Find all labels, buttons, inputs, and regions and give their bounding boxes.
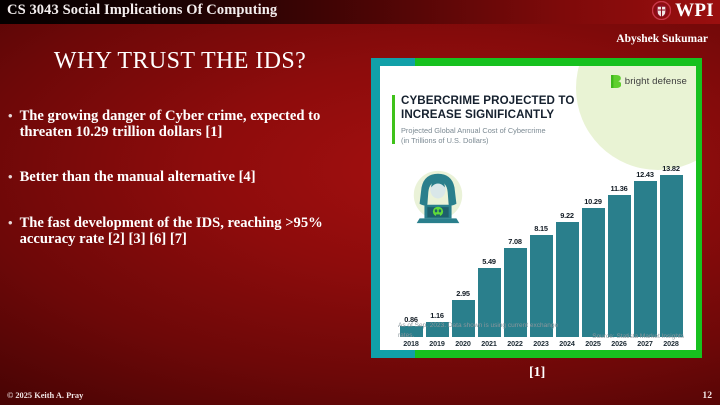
- brand-name: bright defense: [625, 76, 687, 87]
- x-axis-tick-label: 2022: [504, 339, 527, 350]
- bright-defense-logo: bright defense: [611, 75, 687, 88]
- bar: [608, 195, 631, 337]
- bar-column: 11.36: [608, 164, 631, 337]
- page-number: 12: [702, 390, 712, 401]
- x-axis-tick-label: 2020: [452, 339, 475, 350]
- bar-value-label: 9.22: [560, 211, 574, 220]
- chart-figure-frame: bright defense CYBERCRIME PROJECTED TO I…: [371, 58, 702, 358]
- list-item: • The fast development of the IDS, reach…: [8, 215, 366, 248]
- bullet-text: The growing danger of Cyber crime, expec…: [20, 108, 366, 141]
- chart-source: Source: Statista Market Insights: [592, 333, 684, 340]
- title-accent-bar: [392, 95, 395, 144]
- list-item: • Better than the manual alternative [4]: [8, 169, 366, 185]
- x-axis-labels: 2018201920202021202220232024202520262027…: [398, 339, 684, 350]
- copyright-notice: © 2025 Keith A. Pray: [7, 391, 83, 400]
- chart-card: bright defense CYBERCRIME PROJECTED TO I…: [380, 66, 696, 350]
- page-title: WHY TRUST THE IDS?: [0, 48, 360, 75]
- bullet-text: The fast development of the IDS, reachin…: [20, 215, 366, 248]
- wpi-seal-icon: [652, 1, 671, 20]
- bar: [660, 175, 683, 337]
- bright-defense-b-icon: [611, 75, 621, 88]
- bullet-marker-icon: •: [8, 215, 13, 248]
- bar-column: 10.29: [582, 164, 605, 337]
- bar-series: 0.861.162.955.497.088.159.2210.2911.3612…: [398, 164, 684, 337]
- x-axis-tick-label: 2023: [530, 339, 553, 350]
- bar-column: 5.49: [478, 164, 501, 337]
- bullet-list: • The growing danger of Cyber crime, exp…: [8, 108, 366, 270]
- bullet-marker-icon: •: [8, 108, 13, 141]
- x-axis-tick-label: 2024: [556, 339, 579, 350]
- x-axis-tick-label: 2028: [660, 339, 683, 350]
- x-axis-tick-label: 2025: [582, 339, 605, 350]
- bar-column: 7.08: [504, 164, 527, 337]
- bar-value-label: 12.43: [636, 170, 654, 179]
- list-item: • The growing danger of Cyber crime, exp…: [8, 108, 366, 141]
- bar-value-label: 10.29: [584, 197, 602, 206]
- x-axis-tick-label: 2026: [608, 339, 631, 350]
- bar: [556, 222, 579, 337]
- bar-column: 1.16: [426, 164, 449, 337]
- bar-value-label: 13.82: [662, 164, 680, 173]
- x-axis-tick-label: 2019: [426, 339, 449, 350]
- chart-subtitle: Projected Global Annual Cost of Cybercri…: [401, 126, 616, 146]
- slide-header-bar: CS 3043 Social Implications Of Computing…: [0, 0, 720, 24]
- bar-column: 13.82: [660, 164, 683, 337]
- bar-column: 12.43: [634, 164, 657, 337]
- x-axis-tick-label: 2021: [478, 339, 501, 350]
- bar-column: 8.15: [530, 164, 553, 337]
- bar-value-label: 5.49: [482, 257, 496, 266]
- presenter-name: Abyshek Sukumar: [616, 33, 708, 45]
- bar-column: 2.95: [452, 164, 475, 337]
- bullet-text: Better than the manual alternative [4]: [20, 169, 366, 185]
- bullet-marker-icon: •: [8, 169, 13, 185]
- bar-column: 9.22: [556, 164, 579, 337]
- wpi-logo-text: WPI: [675, 1, 714, 20]
- bar-column: 0.86: [400, 164, 423, 337]
- chart-title: CYBERCRIME PROJECTED TO INCREASE SIGNIFI…: [401, 94, 616, 123]
- course-title: CS 3043 Social Implications Of Computing: [7, 2, 277, 19]
- bar: [634, 181, 657, 337]
- bar: [582, 208, 605, 337]
- slide: CS 3043 Social Implications Of Computing…: [0, 0, 720, 405]
- chart-note: As of Sep. 2023. Data shown is using cur…: [398, 321, 563, 340]
- x-axis-tick-label: 2018: [400, 339, 423, 350]
- bar-value-label: 1.16: [430, 311, 444, 320]
- figure-caption: [1]: [529, 365, 545, 381]
- bar-value-label: 11.36: [610, 184, 627, 193]
- bar-value-label: 7.08: [508, 237, 522, 246]
- chart-subtitle-line1: Projected Global Annual Cost of Cybercri…: [401, 126, 616, 136]
- bar-value-label: 8.15: [534, 224, 548, 233]
- bar-value-label: 2.95: [456, 289, 470, 298]
- wpi-logo: WPI: [652, 1, 714, 20]
- x-axis-tick-label: 2027: [634, 339, 657, 350]
- chart-subtitle-line2: (in Trillions of U.S. Dollars): [401, 136, 616, 146]
